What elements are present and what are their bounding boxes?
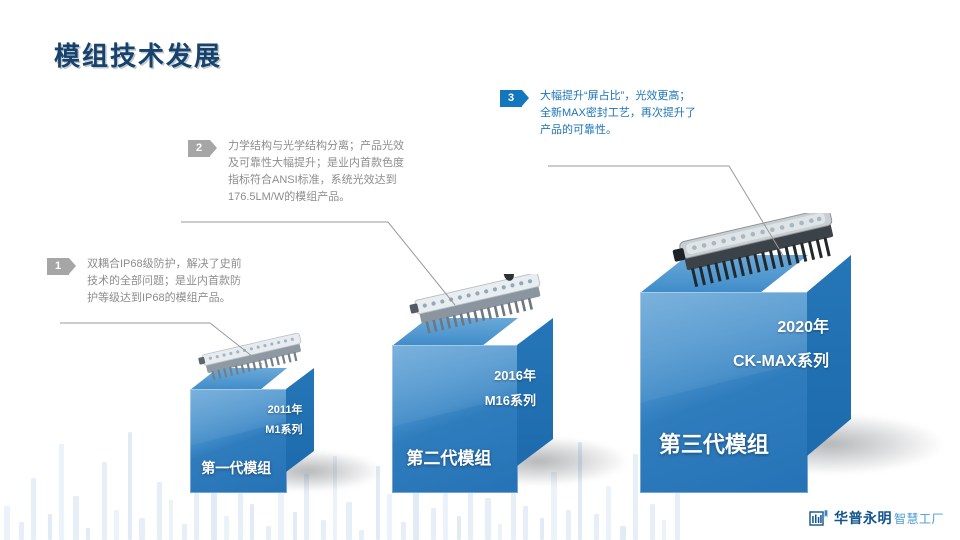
background-bar bbox=[662, 520, 666, 540]
background-bar bbox=[346, 502, 352, 540]
background-bar bbox=[523, 506, 528, 540]
background-bar bbox=[19, 522, 24, 540]
background-bar bbox=[540, 518, 544, 540]
callout-1-number: 1 bbox=[47, 258, 69, 275]
background-bar bbox=[211, 488, 217, 540]
cube-1-generation: 第一代模组 bbox=[201, 458, 271, 478]
background-bar bbox=[59, 444, 64, 540]
background-bar bbox=[457, 516, 461, 540]
background-bar bbox=[250, 504, 254, 540]
page-title: 模组技术发展 bbox=[54, 36, 222, 73]
background-bar bbox=[4, 506, 10, 540]
callout-3-number: 3 bbox=[500, 90, 522, 107]
cube-1-year: 2011年 bbox=[268, 401, 303, 417]
background-bar bbox=[620, 526, 626, 540]
background-bar bbox=[224, 516, 229, 540]
callout-3-text: 大幅提升“屏占比”，光效更高； 全新MAX密封工艺，再次提升了 产品的可靠性。 bbox=[540, 88, 696, 139]
background-bar bbox=[31, 478, 36, 540]
background-bar bbox=[102, 462, 107, 540]
logo-name: 华普永明 bbox=[834, 508, 892, 528]
led-module-m16 bbox=[404, 274, 559, 344]
cube-3-series: CK-MAX系列 bbox=[733, 347, 829, 371]
background-bar bbox=[114, 510, 119, 540]
badge-arrow-tip-2 bbox=[210, 140, 217, 156]
background-bar bbox=[485, 498, 491, 540]
background-bar bbox=[169, 500, 173, 540]
background-bar bbox=[498, 524, 502, 540]
callout-1-number-badge: 1 bbox=[47, 258, 75, 275]
background-bar bbox=[293, 512, 297, 540]
background-bar bbox=[157, 482, 162, 540]
background-bar bbox=[139, 518, 145, 540]
cube-generation-2[interactable]: 2016年 M16系列 第二代模组 bbox=[392, 318, 552, 493]
callout-1-text: 双耦合IP68级防护，解决了史前 技术的全部问题；是业内首款防 护等级达到IP6… bbox=[87, 256, 242, 307]
badge-arrow-tip-3 bbox=[522, 90, 529, 106]
cube-2-year: 2016年 bbox=[494, 365, 536, 384]
cube-2-series: M16系列 bbox=[485, 390, 536, 409]
cube-3-generation: 第三代模组 bbox=[659, 427, 769, 459]
callout-2-text: 力学结构与光学结构分离；产品光效 及可靠性大幅提升；是业内首款色度 指标符合AN… bbox=[228, 138, 404, 206]
callout-2[interactable]: 2 力学结构与光学结构分离；产品光效 及可靠性大幅提升；是业内首款色度 指标符合… bbox=[188, 138, 438, 206]
led-module-m1 bbox=[194, 332, 318, 388]
background-bar bbox=[401, 522, 406, 540]
background-bar bbox=[73, 496, 79, 540]
cube-2-labels: 2016年 M16系列 第二代模组 bbox=[392, 318, 552, 493]
cube-generation-3[interactable]: 2020年 CK-MAX系列 第三代模组 bbox=[640, 255, 850, 493]
huapu-logo-mark-icon bbox=[809, 508, 829, 528]
callout-2-number-badge: 2 bbox=[188, 140, 216, 157]
background-bar bbox=[431, 508, 436, 540]
background-bar bbox=[321, 520, 326, 540]
callout-3[interactable]: 3 大幅提升“屏占比”，光效更高； 全新MAX密封工艺，再次提升了 产品的可靠性… bbox=[500, 88, 780, 139]
background-bar bbox=[594, 514, 599, 540]
cube-1-series: M1系列 bbox=[265, 421, 302, 437]
background-bar bbox=[128, 432, 132, 540]
background-bar bbox=[650, 504, 655, 540]
background-bar bbox=[606, 486, 611, 540]
background-bar bbox=[566, 510, 571, 540]
led-module-ck-max bbox=[668, 213, 858, 299]
cube-2-generation: 第二代模组 bbox=[406, 444, 491, 469]
brand-logo: 华普永明 智慧工厂 bbox=[809, 508, 944, 528]
background-bar bbox=[633, 454, 638, 540]
background-bar bbox=[182, 524, 187, 540]
cube-3-year: 2020年 bbox=[777, 313, 829, 337]
slide-canvas: 模组技术发展 1 双耦合IP68级防护，解决了史前 技术的全部问题；是业内首款防… bbox=[0, 0, 960, 540]
background-bar bbox=[86, 528, 90, 540]
callout-1[interactable]: 1 双耦合IP68级防护，解决了史前 技术的全部问题；是业内首款防 护等级达到I… bbox=[47, 256, 277, 307]
cube-generation-1[interactable]: 2011年 M1系列 第一代模组 bbox=[190, 368, 315, 493]
background-bar bbox=[48, 514, 52, 540]
background-bar bbox=[266, 526, 271, 540]
callout-2-number: 2 bbox=[188, 140, 210, 157]
logo-subtitle: 智慧工厂 bbox=[894, 510, 944, 527]
callout-3-number-badge: 3 bbox=[500, 90, 528, 107]
background-bar bbox=[387, 494, 392, 540]
background-bar bbox=[359, 530, 364, 540]
badge-arrow-tip-1 bbox=[69, 258, 76, 274]
